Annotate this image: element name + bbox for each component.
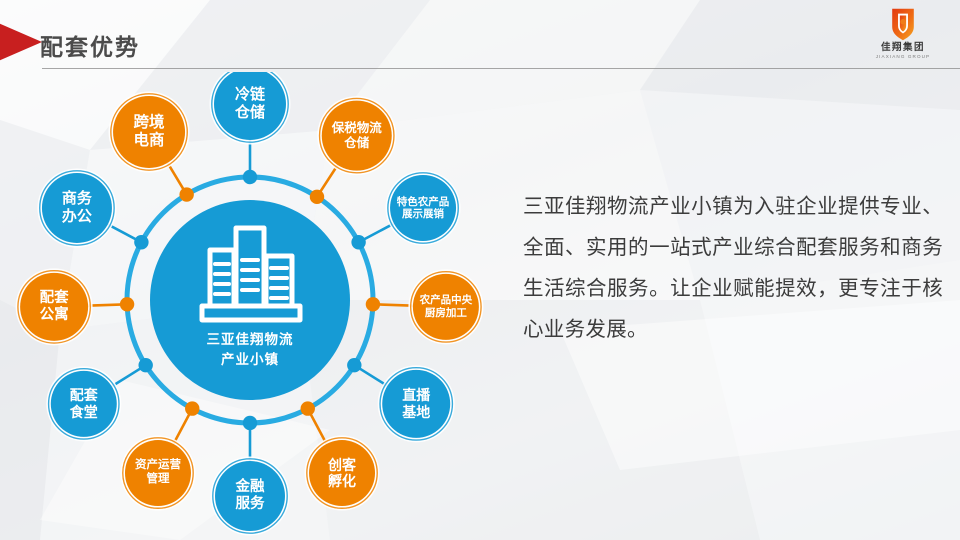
page-title: 配套优势 — [40, 28, 140, 62]
diagram-canvas — [0, 72, 510, 540]
slide: 配套优势 佳翔集团 JIAXIANG GROUP 冷链 仓储保税物流 仓储特色农… — [0, 0, 960, 540]
shield-icon — [864, 6, 942, 42]
company-logo: 佳翔集团 JIAXIANG GROUP — [864, 6, 942, 64]
description-paragraph: 三亚佳翔物流产业小镇为入驻企业提供专业、全面、实用的一站式产业综合配套服务和商务… — [523, 186, 943, 350]
logo-name-cn: 佳翔集团 — [864, 42, 942, 53]
header-divider — [42, 68, 960, 69]
ecosystem-diagram: 冷链 仓储保税物流 仓储特色农产品 展示展销农产品中央 厨房加工直播 基地创客 … — [0, 72, 510, 540]
red-arrow-icon — [0, 22, 42, 62]
slide-header: 配套优势 — [0, 0, 960, 72]
logo-name-en: JIAXIANG GROUP — [864, 53, 942, 60]
hub-label: 三亚佳翔物流 产业小镇 — [160, 330, 340, 369]
